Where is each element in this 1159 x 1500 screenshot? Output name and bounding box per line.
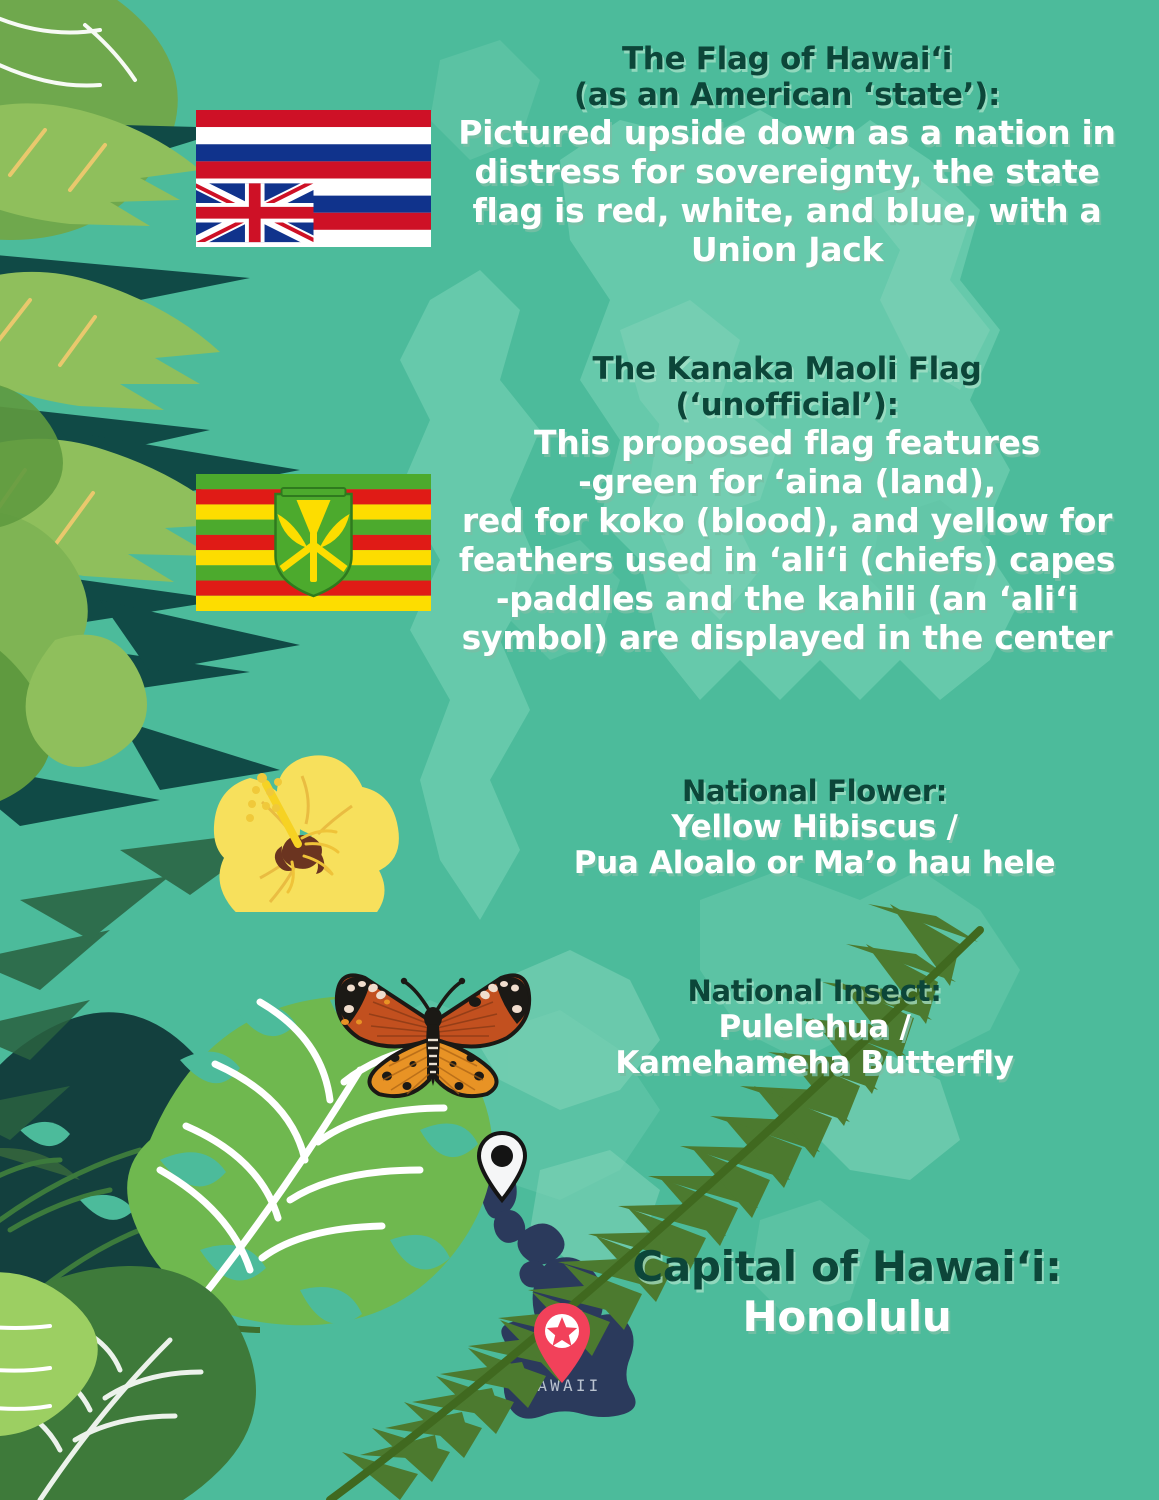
map-pins <box>0 0 1159 1500</box>
union-jack-canton <box>196 183 314 242</box>
kanaka-maoli-flag <box>196 474 431 611</box>
poster-canvas: HAWAII <box>0 0 1159 1500</box>
hibiscus-petals <box>214 755 399 912</box>
kamehameha-butterfly <box>325 962 541 1102</box>
hawaii-state-flag-inverted <box>196 110 431 247</box>
left-forewing <box>337 975 429 1046</box>
kanaka-shield <box>276 488 352 596</box>
yellow-hibiscus-flower <box>206 752 402 912</box>
right-forewing <box>437 975 529 1046</box>
map-pin-red-star <box>534 1303 590 1383</box>
map-pin-white <box>479 1133 525 1200</box>
